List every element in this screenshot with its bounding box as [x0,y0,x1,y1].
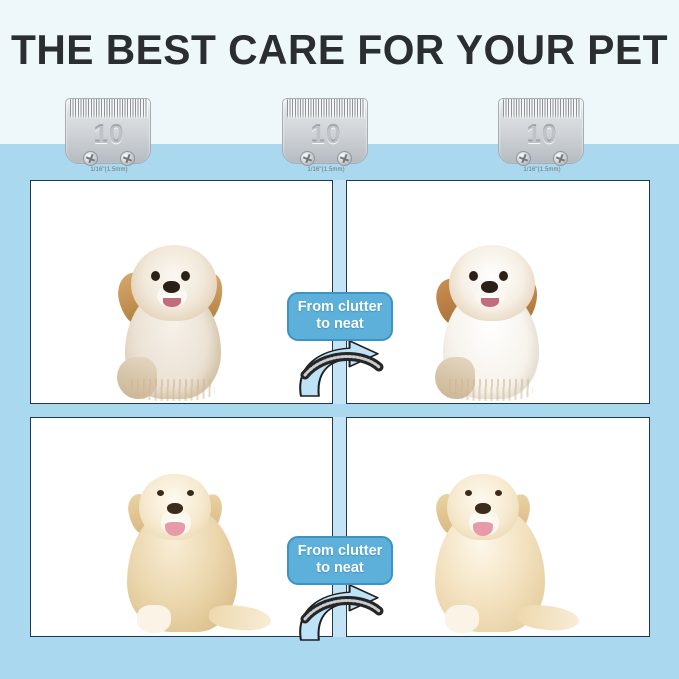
screw-icon-right [553,151,568,166]
blade-number-label: 10 [283,119,369,150]
dog-tongue [473,519,493,536]
dog-eye-left [465,490,472,496]
dog-eye-right [181,271,190,281]
dog-eye-left [151,271,160,281]
blade-body: 10 1/16"(1.5mm) [282,98,368,164]
pet-grooming-poster: THE BEST CARE FOR YOUR PET 10 1/16"(1.5m… [0,0,679,679]
dog-nose [475,503,491,514]
dog-nose [167,503,183,514]
screw-icon-left [516,151,531,166]
badge-line-1: From clutter [298,543,383,559]
blade-size-label: 1/16"(1.5mm) [66,167,152,173]
dog-photo-after-terrier [421,221,571,399]
dog-nose [481,281,498,293]
blade-body: 10 1/16"(1.5mm) [65,98,151,164]
dog-mouth [163,296,181,307]
badge-line-2: to neat [316,316,364,332]
badge-line-1: From clutter [298,299,383,315]
dog-photo-before-terrier [103,229,253,399]
blade-teeth [70,99,148,119]
blade-teeth [287,99,365,119]
badge-from-clutter-to-neat: From clutter to neat [287,292,393,341]
blade-body: 10 1/16"(1.5mm) [498,98,584,164]
clipper-blade-icon-center: 10 1/16"(1.5mm) [282,88,368,164]
dog-eye-right [495,490,502,496]
screw-icon-right [337,151,352,166]
curved-arrow-icon [275,583,405,649]
blade-size-label: 1/16"(1.5mm) [499,167,585,173]
dog-eye-left [469,271,478,281]
dog-mouth [481,296,499,307]
dog-eye-left [157,490,164,496]
blade-teeth [503,99,581,119]
badge-from-clutter-to-neat: From clutter to neat [287,536,393,585]
dog-nose [163,281,180,293]
clipper-blade-icon-left: 10 1/16"(1.5mm) [65,88,151,164]
blade-number-label: 10 [499,119,585,150]
screw-icon-left [83,151,98,166]
page-title: THE BEST CARE FOR YOUR PET [10,26,669,74]
screw-icon-left [300,151,315,166]
dog-photo-after-golden [411,442,581,632]
dog-tongue [165,519,185,536]
dog-eye-right [499,271,508,281]
blade-number-label: 10 [66,119,152,150]
dog-photo-before-golden [103,452,263,632]
screw-icon-right [120,151,135,166]
transform-callout-top: From clutter to neat [275,292,405,405]
clipper-blade-icon-right: 10 1/16"(1.5mm) [498,88,584,164]
transform-callout-bottom: From clutter to neat [275,536,405,649]
curved-arrow-icon [275,339,405,405]
badge-line-2: to neat [316,560,364,576]
dog-eye-right [187,490,194,496]
blade-size-label: 1/16"(1.5mm) [283,167,369,173]
